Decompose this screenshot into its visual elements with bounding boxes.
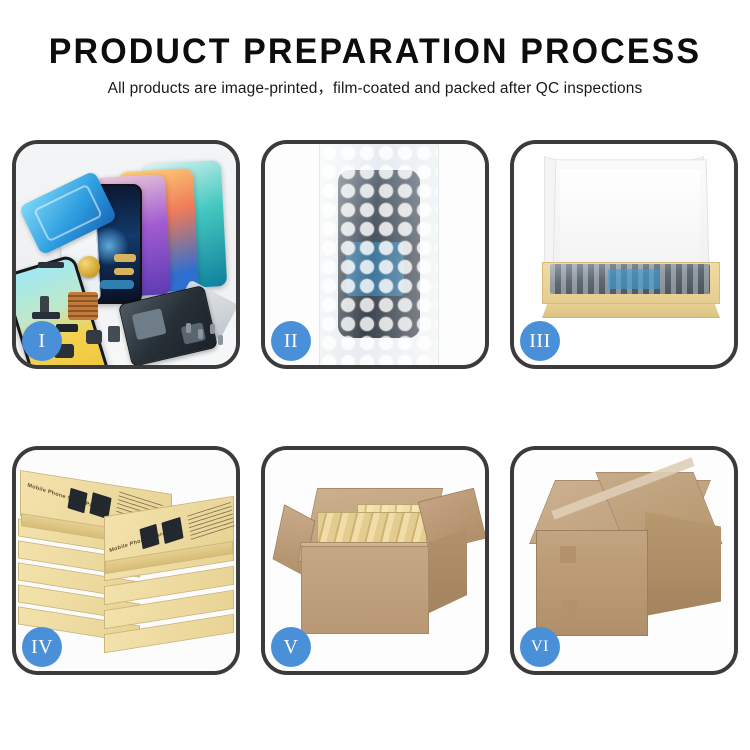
part-icon	[38, 262, 64, 268]
packed-screen-icon	[550, 264, 710, 294]
part-icon	[114, 268, 134, 275]
step-panel-5: V	[261, 446, 489, 675]
part-icon	[114, 254, 136, 262]
step-panel-6: VI	[510, 446, 738, 675]
steps-grid: I II	[12, 140, 738, 675]
sealed-carton-side-icon	[645, 512, 721, 616]
step-badge-2: II	[271, 321, 311, 361]
step-panel-3: III	[510, 140, 738, 369]
step-badge-5: V	[271, 627, 311, 667]
part-icon	[108, 326, 120, 342]
copper-mesh-icon	[68, 292, 98, 320]
step-badge-3: III	[520, 321, 560, 361]
bubble-wrap-sleeve-icon	[319, 144, 439, 365]
foam-lining-icon	[560, 170, 700, 266]
step-badge-4: IV	[22, 627, 62, 667]
step-badge-1: I	[22, 321, 62, 361]
header: PRODUCT PREPARATION PROCESS All products…	[0, 0, 750, 102]
page-subtitle: All products are image-printed，film-coat…	[0, 76, 750, 102]
screws-icon	[186, 323, 226, 347]
page-title: PRODUCT PREPARATION PROCESS	[11, 30, 739, 74]
product-preparation-infographic: PRODUCT PREPARATION PROCESS All products…	[0, 0, 750, 750]
part-icon	[32, 312, 60, 319]
part-icon	[86, 330, 102, 344]
flex-cable-icon	[100, 280, 134, 289]
carton-tab-icon	[562, 600, 578, 617]
step-panel-4: Mobile Phone Spare Parts Mobile Phone Sp…	[12, 446, 240, 675]
step-panel-2: II	[261, 140, 489, 369]
step-badge-6: VI	[520, 627, 560, 667]
sealed-carton-front-icon	[536, 530, 648, 636]
speaker-coil-icon	[78, 256, 100, 278]
carton-tab-icon	[560, 546, 576, 563]
step-panel-1: I	[12, 140, 240, 369]
carton-body-icon	[301, 546, 429, 634]
